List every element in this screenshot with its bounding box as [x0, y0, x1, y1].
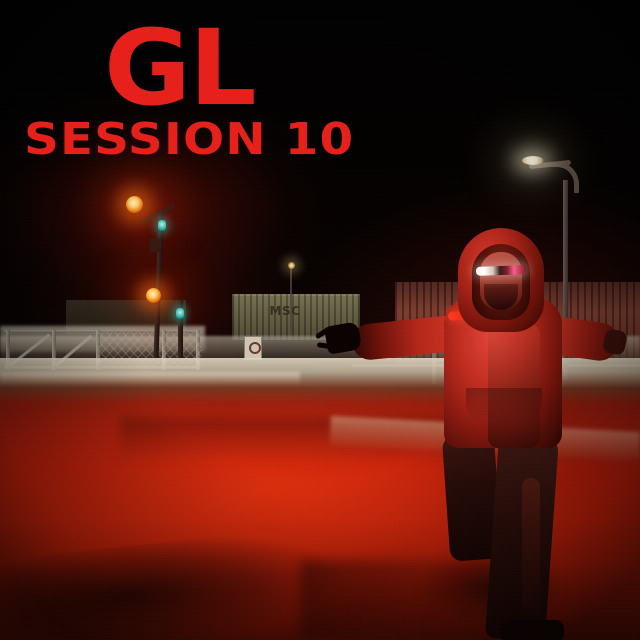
- reflective-glasses-icon: [476, 265, 526, 276]
- container-logo-text: MSC: [268, 305, 302, 331]
- album-subtitle: SESSION 10: [24, 118, 354, 162]
- distant-light: [288, 262, 295, 269]
- warning-placard-sign: [244, 336, 262, 360]
- figure-leg-highlight: [522, 478, 540, 628]
- figure-shoe: [500, 620, 564, 640]
- railway-signal-amber-light: [146, 288, 161, 303]
- railway-signal-housing: [150, 238, 161, 252]
- railway-signal-amber-light: [126, 196, 143, 213]
- person-in-hoodie: [396, 228, 610, 640]
- title-block: GL SESSION 10: [0, 0, 640, 180]
- figure-hoodie-shading: [488, 324, 540, 448]
- album-title: GL: [104, 16, 255, 120]
- railway-signal-teal-light: [176, 308, 184, 319]
- album-cover-artwork: MSC: [0, 0, 640, 640]
- railway-signal-teal-light: [158, 220, 166, 231]
- figure-hoodie-pocket: [466, 388, 542, 422]
- distant-pole: [290, 266, 292, 336]
